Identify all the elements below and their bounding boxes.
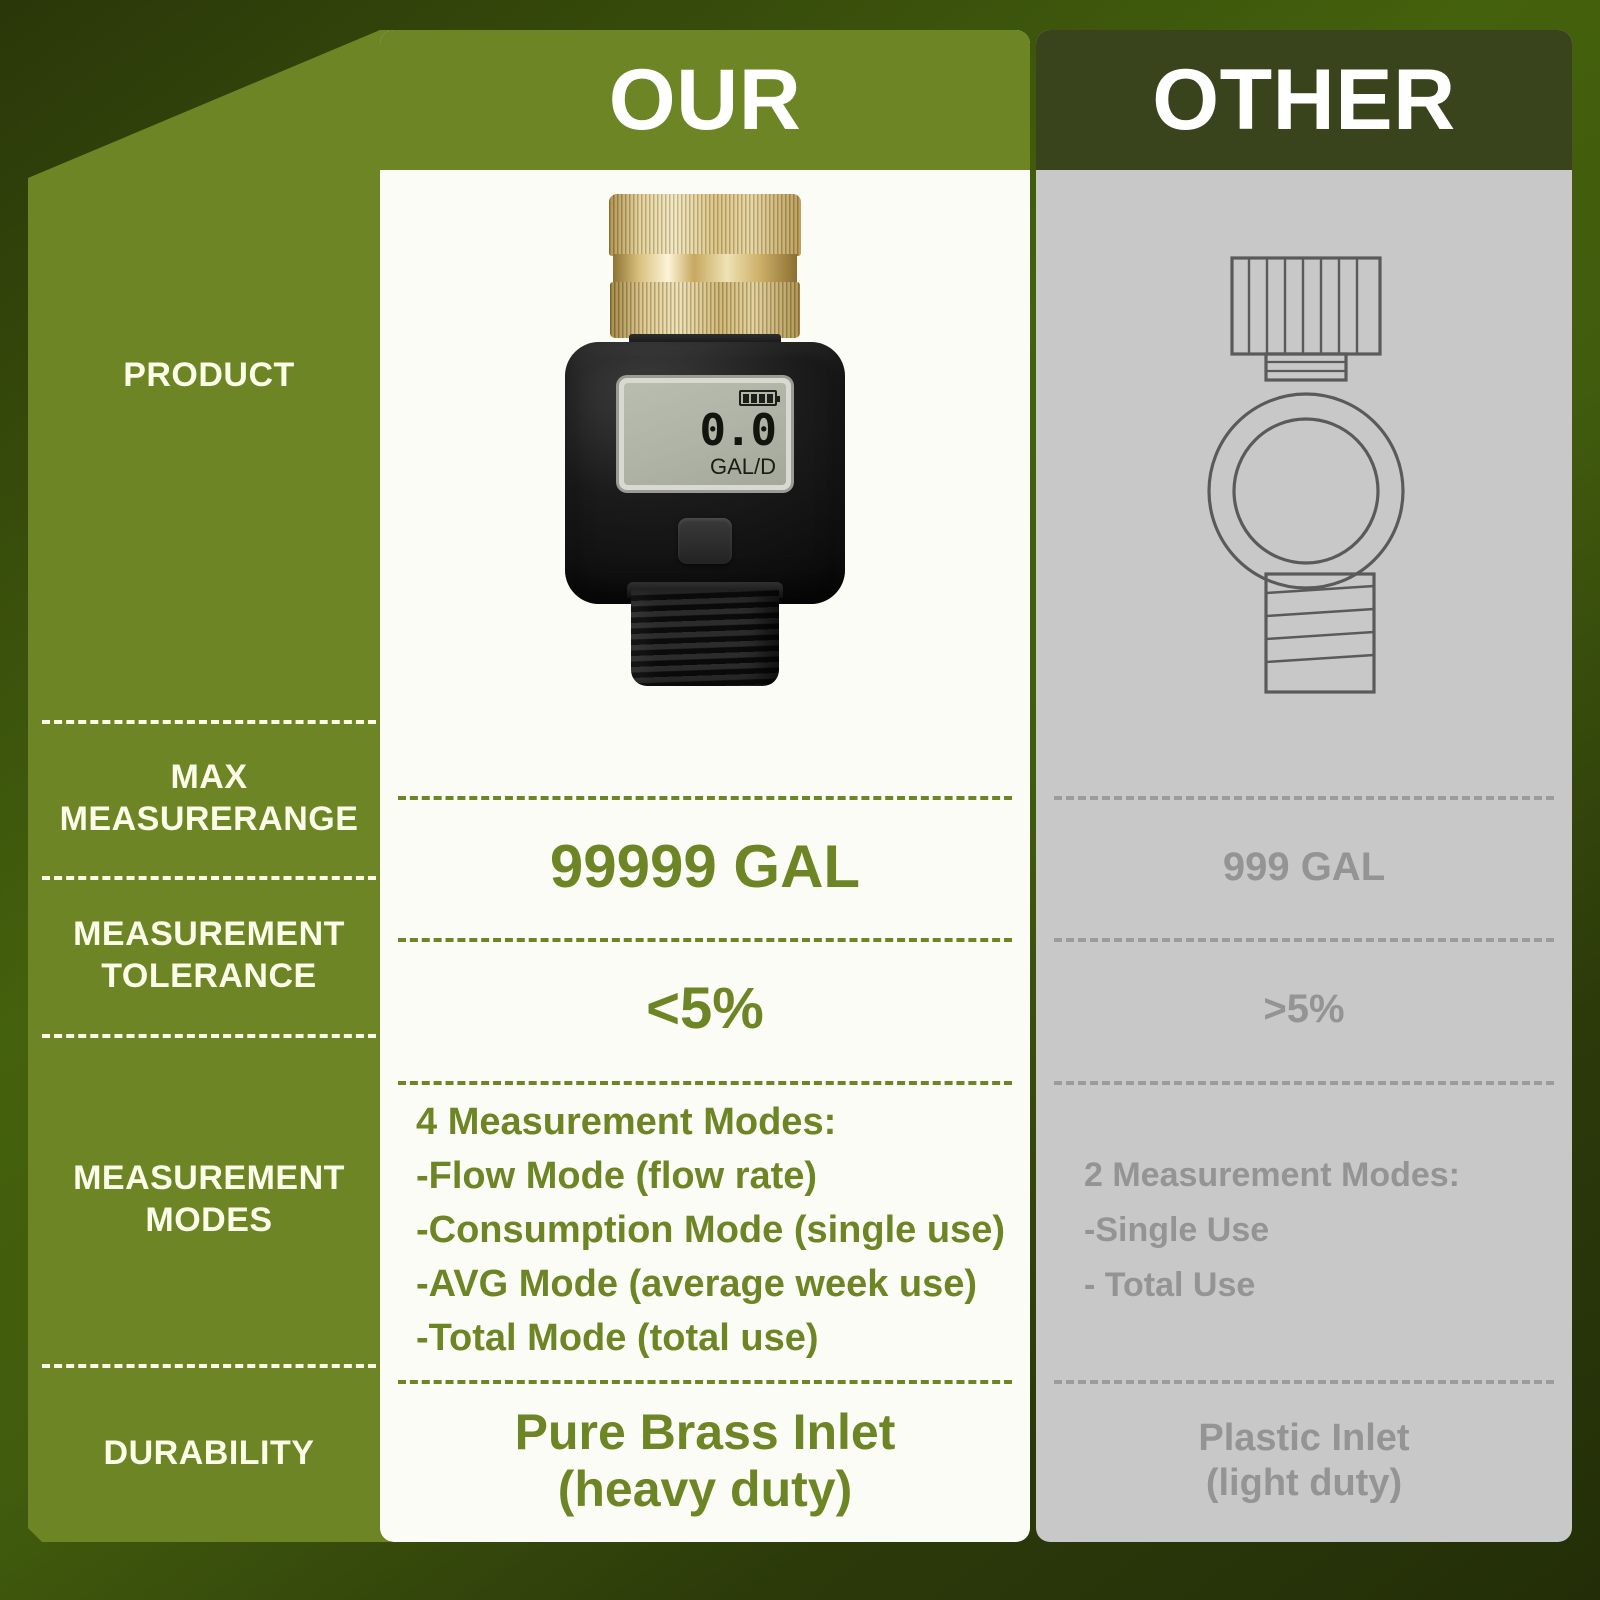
brass-cap-band-icon [613, 254, 797, 284]
label-product: PRODUCT [28, 30, 390, 720]
lcd-screen: 0.0 GAL/D [619, 378, 791, 490]
other-modes-line: -Single Use [1084, 1203, 1558, 1258]
our-max-measure-range-value: 99999 GAL [550, 832, 860, 901]
battery-bar [751, 394, 757, 403]
other-max-measure-range-cell: 999 GAL [1036, 796, 1572, 938]
our-measurement-modes-list: 4 Measurement Modes: -Flow Mode (flow ra… [394, 1096, 1016, 1366]
label-column: PRODUCT MAX MEASURERANGE MEASUREMENT TOL… [28, 30, 390, 1542]
label-measurement-tolerance: MEASUREMENT TOLERANCE [28, 876, 390, 1034]
other-modes-line: 2 Measurement Modes: [1084, 1148, 1558, 1203]
other-durability-line1: Plastic Inlet [1198, 1416, 1409, 1462]
our-durability-line2: (heavy duty) [515, 1461, 896, 1519]
threaded-outlet-icon [631, 590, 779, 686]
our-modes-line: -Flow Mode (flow rate) [416, 1150, 1016, 1204]
our-column: OUR 0.0 GAL/ [380, 30, 1030, 1542]
other-durability-cell: Plastic Inlet (light duty) [1036, 1380, 1572, 1542]
our-durability-value: Pure Brass Inlet (heavy duty) [515, 1404, 896, 1519]
other-product-cell [1036, 170, 1572, 796]
comparison-infographic: PRODUCT MAX MEASURERANGE MEASUREMENT TOL… [0, 0, 1600, 1600]
other-column: OTHER [1036, 30, 1572, 1542]
battery-icon [739, 390, 777, 406]
lcd-surface: 0.0 GAL/D [624, 383, 786, 485]
our-max-measure-range-cell: 99999 GAL [380, 796, 1030, 938]
label-max-measure-range: MAX MEASURERANGE [28, 720, 390, 876]
mode-button[interactable] [678, 518, 732, 564]
our-product-cell: 0.0 GAL/D [380, 170, 1030, 796]
other-modes-line: - Total Use [1084, 1258, 1558, 1313]
our-modes-line: -Consumption Mode (single use) [416, 1204, 1016, 1258]
our-measurement-tolerance-value: <5% [646, 976, 764, 1043]
brass-cap-bottom-icon [610, 282, 800, 338]
label-durability: DURABILITY [28, 1364, 390, 1542]
other-measurement-modes-cell: 2 Measurement Modes: -Single Use - Total… [1036, 1081, 1572, 1380]
battery-bar [743, 394, 749, 403]
lcd-value: 0.0 [700, 409, 776, 453]
label-measurement-modes: MEASUREMENT MODES [28, 1034, 390, 1364]
other-max-measure-range-value: 999 GAL [1223, 843, 1385, 891]
our-modes-line: -Total Mode (total use) [416, 1312, 1016, 1366]
brass-cap-top-icon [609, 194, 801, 256]
battery-bar [767, 394, 773, 403]
our-measurement-tolerance-cell: <5% [380, 938, 1030, 1081]
product-photo: 0.0 GAL/D [380, 170, 1030, 796]
battery-bar [759, 394, 765, 403]
our-modes-line: 4 Measurement Modes: [416, 1096, 1016, 1150]
other-measurement-tolerance-cell: >5% [1036, 938, 1572, 1081]
our-durability-cell: Pure Brass Inlet (heavy duty) [380, 1380, 1030, 1542]
other-durability-line2: (light duty) [1198, 1461, 1409, 1507]
lcd-unit: GAL/D [710, 454, 776, 480]
other-column-header: OTHER [1036, 30, 1572, 170]
other-measurement-tolerance-value: >5% [1263, 985, 1344, 1033]
our-durability-line1: Pure Brass Inlet [515, 1404, 896, 1462]
our-column-header: OUR [380, 30, 1030, 170]
our-modes-line: -AVG Mode (average week use) [416, 1258, 1016, 1312]
other-product-outline [1036, 170, 1572, 796]
our-measurement-modes-cell: 4 Measurement Modes: -Flow Mode (flow ra… [380, 1081, 1030, 1380]
other-measurement-modes-list: 2 Measurement Modes: -Single Use - Total… [1050, 1148, 1558, 1313]
plastic-meter-outline-icon [1154, 248, 1454, 718]
other-durability-value: Plastic Inlet (light duty) [1198, 1416, 1409, 1507]
